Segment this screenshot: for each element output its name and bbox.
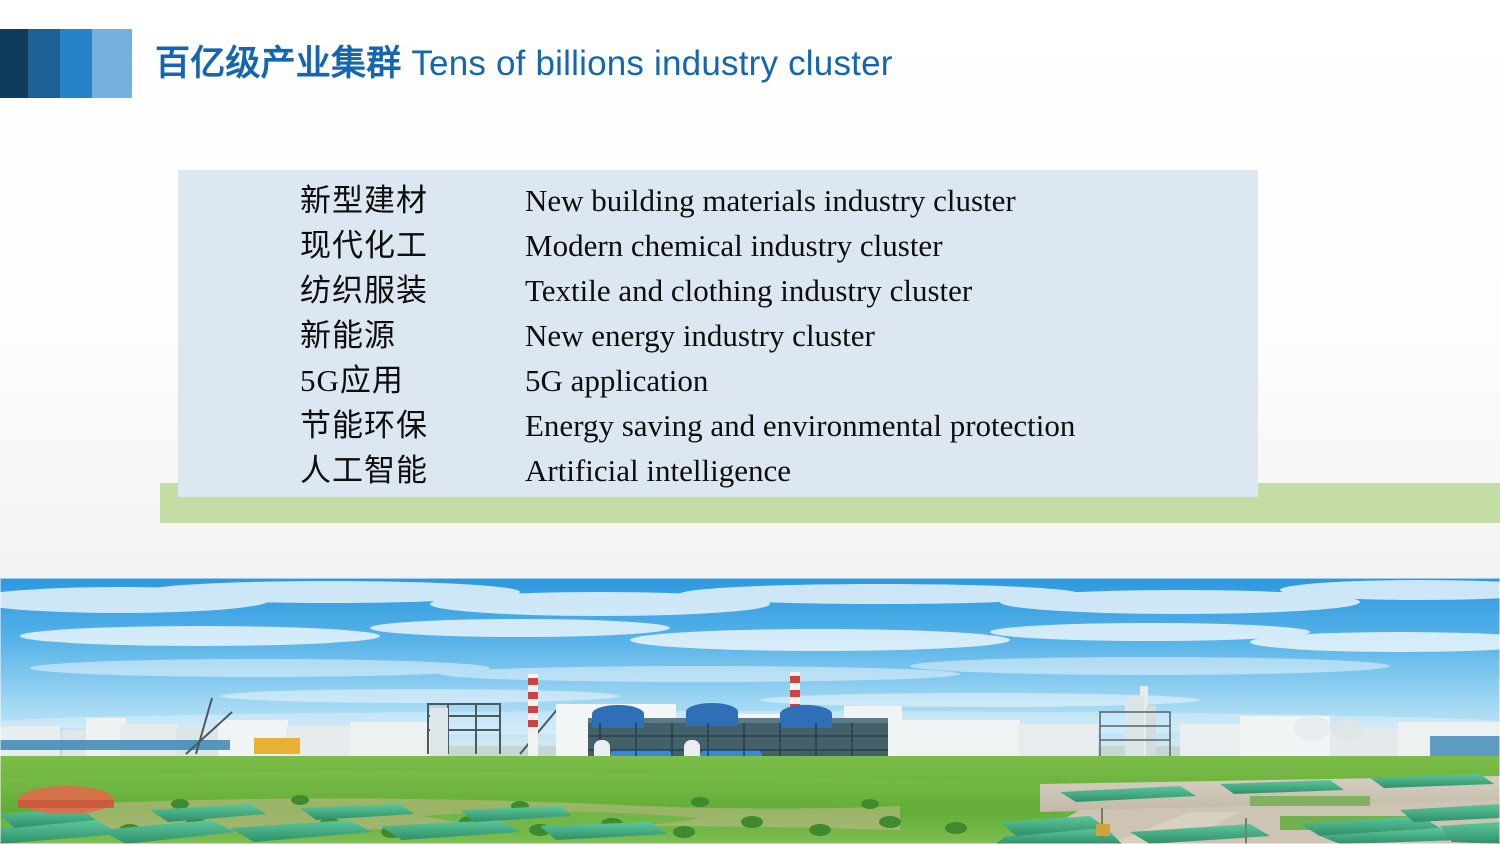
- list-item: 人工智能 Artificial intelligence: [300, 448, 1240, 493]
- cluster-label-cn: 5G应用: [300, 358, 525, 403]
- list-item: 新型建材 New building materials industry clu…: [300, 178, 1240, 223]
- header-bar-darkest: [0, 29, 28, 98]
- list-item: 5G应用 5G application: [300, 358, 1240, 403]
- cluster-label-cn: 新型建材: [300, 178, 525, 223]
- cluster-panel: 新型建材 New building materials industry clu…: [178, 170, 1258, 497]
- cluster-label-en: Modern chemical industry cluster: [525, 223, 1240, 268]
- header-bar-dark: [28, 29, 60, 98]
- slide-canvas: 百亿级产业集群 Tens of billions industry cluste…: [0, 0, 1500, 844]
- cluster-label-cn: 纺织服装: [300, 268, 525, 313]
- cluster-label-en: New building materials industry cluster: [525, 178, 1240, 223]
- cluster-label-en: Energy saving and environmental protecti…: [525, 403, 1240, 448]
- list-item: 新能源 New energy industry cluster: [300, 313, 1240, 358]
- cluster-label-cn: 节能环保: [300, 403, 525, 448]
- cluster-label-cn: 人工智能: [300, 448, 525, 493]
- industrial-park-illustration: [0, 578, 1500, 844]
- page-title-separator: [401, 44, 411, 83]
- header-bar-light: [92, 29, 132, 98]
- cluster-label-cn: 现代化工: [300, 223, 525, 268]
- list-item: 纺织服装 Textile and clothing industry clust…: [300, 268, 1240, 313]
- cluster-label-cn: 新能源: [300, 313, 525, 358]
- cluster-label-en: New energy industry cluster: [525, 313, 1240, 358]
- header-accent-bars: [0, 29, 132, 98]
- industrial-park-photo: [0, 578, 1500, 844]
- list-item: 节能环保 Energy saving and environmental pro…: [300, 403, 1240, 448]
- page-title: 百亿级产业集群 Tens of billions industry cluste…: [155, 35, 893, 86]
- cluster-label-en: Textile and clothing industry cluster: [525, 268, 1240, 313]
- cluster-list: 新型建材 New building materials industry clu…: [300, 178, 1240, 493]
- cluster-label-en: Artificial intelligence: [525, 448, 1240, 493]
- page-title-chinese: 百亿级产业集群: [155, 44, 401, 83]
- page-title-english: Tens of billions industry cluster: [411, 44, 892, 83]
- cluster-label-en: 5G application: [525, 358, 1240, 403]
- list-item: 现代化工 Modern chemical industry cluster: [300, 223, 1240, 268]
- header-bar-medium: [60, 29, 92, 98]
